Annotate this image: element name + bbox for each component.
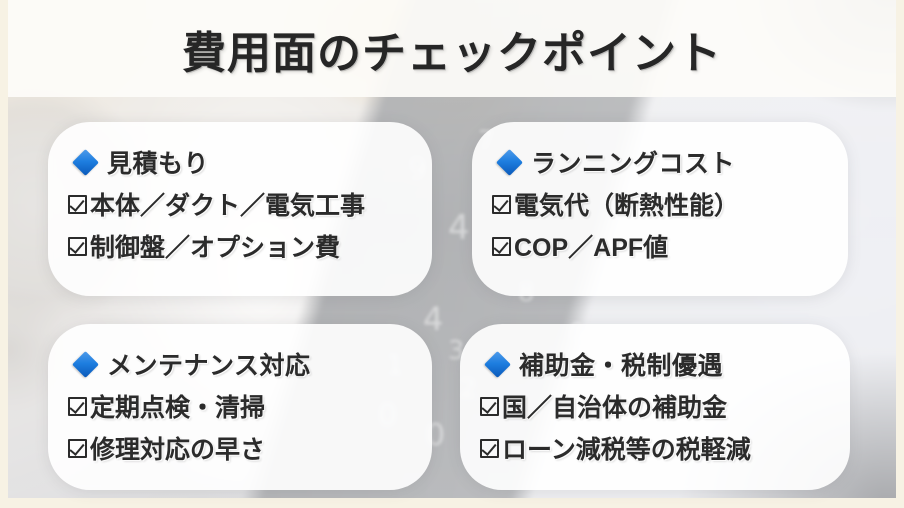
card-title: メンテナンス対応 [107, 346, 311, 382]
card-header: ランニングコスト [500, 144, 828, 180]
checked-box-icon [492, 195, 511, 214]
list-item-label: 国／自治体の補助金 [502, 388, 727, 424]
checked-box-icon [480, 397, 499, 416]
slide: 9 7 5 4 4 3 1 2 0 0 8 6 費用面のチェックポイント 見積も… [0, 0, 904, 508]
checked-box-icon [492, 237, 511, 256]
list-item-label: 修理対応の早さ [90, 430, 265, 466]
list-item: 定期点検・清掃 [68, 388, 412, 424]
card-header: 補助金・税制優遇 [488, 346, 830, 382]
list-item-label: 制御盤／オプション費 [90, 228, 340, 264]
list-item: 国／自治体の補助金 [480, 388, 830, 424]
card-title: 見積もり [107, 144, 209, 180]
card-running-cost[interactable]: ランニングコスト 電気代（断熱性能） COP／APF値 [472, 122, 848, 296]
checked-box-icon [68, 195, 87, 214]
blue-diamond-icon [484, 351, 511, 378]
list-item: COP／APF値 [492, 228, 828, 264]
checked-box-icon [68, 397, 87, 416]
blue-diamond-icon [72, 149, 99, 176]
card-estimate[interactable]: 見積もり 本体／ダクト／電気工事 制御盤／オプション費 [48, 122, 432, 296]
blue-diamond-icon [496, 149, 523, 176]
list-item-label: 電気代（断熱性能） [514, 186, 739, 222]
card-maintenance[interactable]: メンテナンス対応 定期点検・清掃 修理対応の早さ [48, 324, 432, 490]
checked-box-icon [68, 439, 87, 458]
card-header: 見積もり [76, 144, 412, 180]
list-item: ローン減税等の税軽減 [480, 430, 830, 466]
list-item: 本体／ダクト／電気工事 [68, 186, 412, 222]
card-header: メンテナンス対応 [76, 346, 412, 382]
list-item-label: 本体／ダクト／電気工事 [90, 186, 365, 222]
list-item: 制御盤／オプション費 [68, 228, 412, 264]
list-item-label: COP／APF値 [514, 228, 668, 264]
list-item-label: ローン減税等の税軽減 [502, 430, 751, 466]
checked-box-icon [480, 439, 499, 458]
card-title: 補助金・税制優遇 [519, 346, 723, 382]
list-item: 電気代（断熱性能） [492, 186, 828, 222]
checked-box-icon [68, 237, 87, 256]
list-item-label: 定期点検・清掃 [90, 388, 265, 424]
cards-grid: 見積もり 本体／ダクト／電気工事 制御盤／オプション費 ランニングコスト 電気代… [0, 0, 904, 508]
blue-diamond-icon [72, 351, 99, 378]
card-subsidy-tax[interactable]: 補助金・税制優遇 国／自治体の補助金 ローン減税等の税軽減 [460, 324, 850, 490]
card-title: ランニングコスト [531, 144, 735, 180]
list-item: 修理対応の早さ [68, 430, 412, 466]
